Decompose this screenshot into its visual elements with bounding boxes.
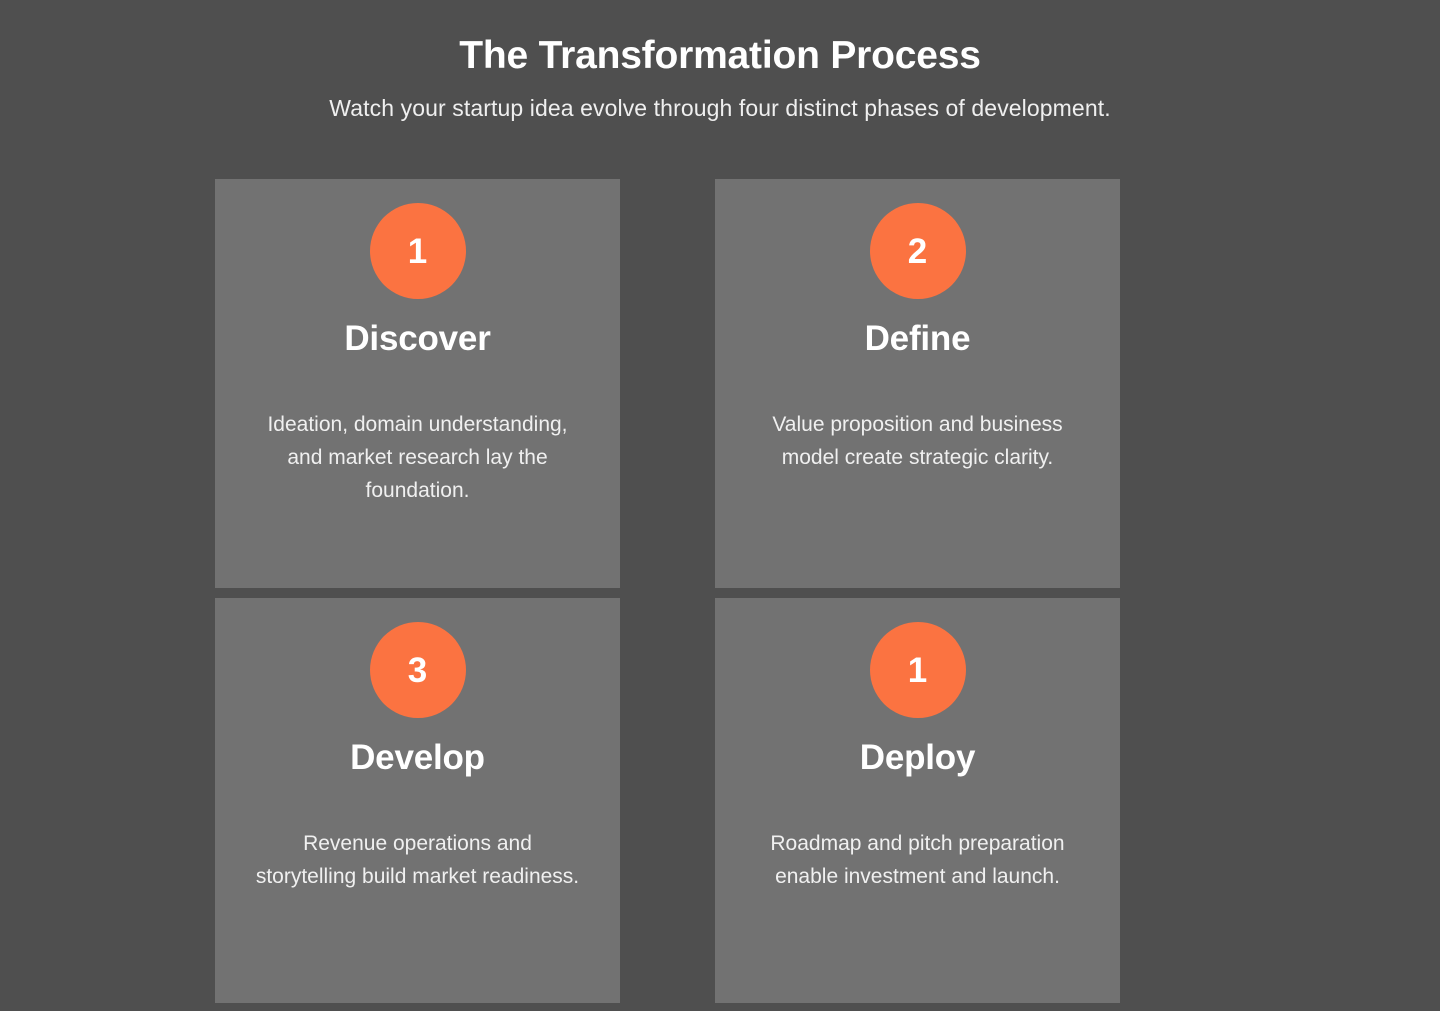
step-badge-4: 1 [870,622,966,718]
step-badge-2: 2 [870,203,966,299]
process-card-discover[interactable]: 1 Discover Ideation, domain understandin… [215,179,620,588]
step-number: 1 [908,653,927,688]
card-title: Define [865,299,971,360]
card-description: Roadmap and pitch preparation enable inv… [753,779,1083,893]
step-badge-1: 1 [370,203,466,299]
card-description: Value proposition and business model cre… [753,360,1083,474]
step-number: 2 [908,234,927,269]
step-number: 1 [408,234,427,269]
page-subtitle: Watch your startup idea evolve through f… [0,80,1440,123]
card-title: Discover [344,299,490,360]
process-card-define[interactable]: 2 Define Value proposition and business … [715,179,1120,588]
card-title: Develop [350,718,485,779]
step-number: 3 [408,653,427,688]
page-title: The Transformation Process [0,0,1440,80]
card-description: Ideation, domain understanding, and mark… [253,360,583,507]
process-card-develop[interactable]: 3 Develop Revenue operations and storyte… [215,598,620,1003]
card-title: Deploy [860,718,976,779]
process-card-grid: 1 Discover Ideation, domain understandin… [215,179,1120,1003]
page-header: The Transformation Process Watch your st… [0,0,1440,123]
transformation-process-page: The Transformation Process Watch your st… [0,0,1440,1011]
process-card-deploy[interactable]: 1 Deploy Roadmap and pitch preparation e… [715,598,1120,1003]
step-badge-3: 3 [370,622,466,718]
card-description: Revenue operations and storytelling buil… [253,779,583,893]
